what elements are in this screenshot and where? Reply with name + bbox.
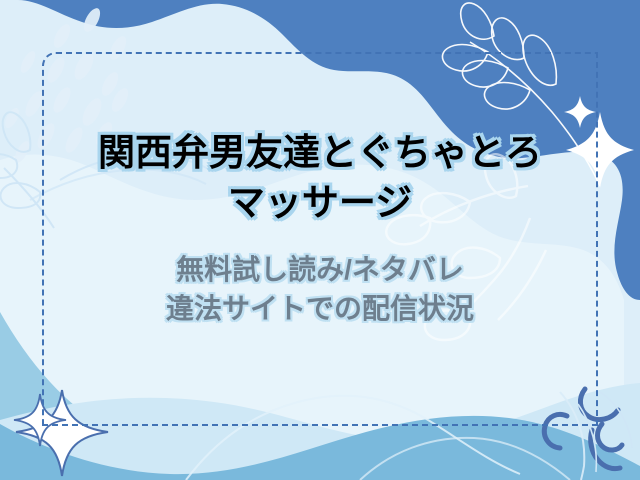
title-line-1: 関西弁男友達とぐちゃとろ [40,128,600,178]
page-title: 関西弁男友達とぐちゃとろ マッサージ [40,128,600,228]
thumbnail-canvas: 関西弁男友達とぐちゃとろ マッサージ 無料試し読み/ネタバレ 違法サイトでの配信… [0,0,640,480]
page-subtitle: 無料試し読み/ネタバレ 違法サイトでの配信状況 [40,250,600,328]
text-block: 関西弁男友達とぐちゃとろ マッサージ 無料試し読み/ネタバレ 違法サイトでの配信… [0,0,640,480]
subtitle-line-1: 無料試し読み/ネタバレ [40,250,600,289]
title-line-2: マッサージ [40,178,600,228]
subtitle-line-2: 違法サイトでの配信状況 [40,289,600,328]
